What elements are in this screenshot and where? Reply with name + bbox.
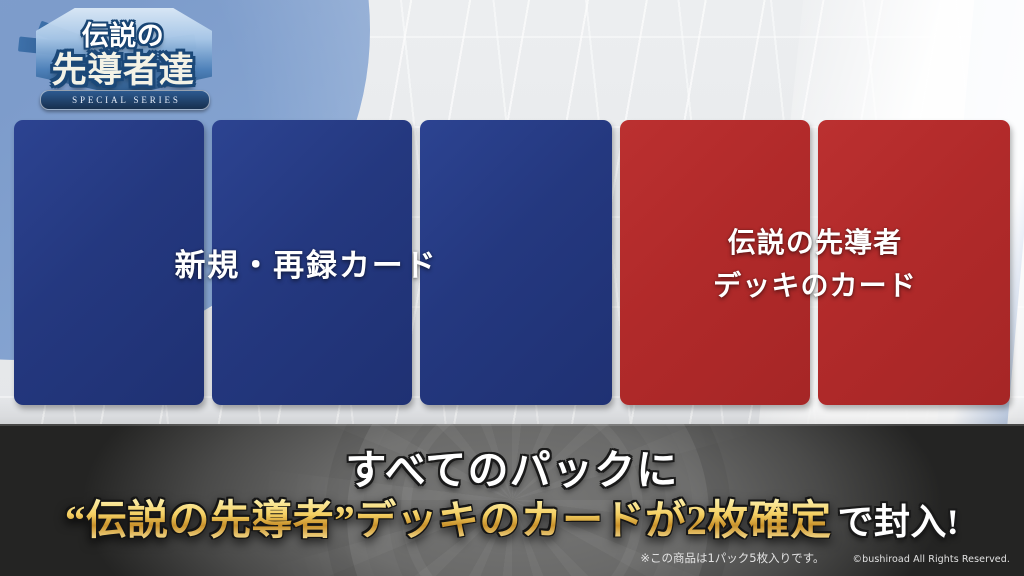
pack-contents-note: ※この商品は1パック5枚入りです。: [640, 550, 824, 566]
fineprint-row: ※この商品は1パック5枚入りです。 ©bushiroad All Rights …: [640, 550, 1010, 566]
logo-series-text: SPECIAL SERIES: [41, 91, 209, 109]
card-blue-2: [212, 120, 412, 405]
logo-title-main: 先導者達: [14, 42, 232, 93]
card-red-2: [818, 120, 1010, 405]
card-blue-1: [14, 120, 204, 405]
banner-headline-gold: “伝説の先導者”デッキのカードが2枚確定: [65, 497, 832, 543]
series-logo: 伝説の 先導者達 SPECIAL SERIES: [14, 2, 232, 114]
logo-series-ribbon: SPECIAL SERIES: [40, 90, 210, 110]
banner-top-edge: [0, 424, 1024, 426]
copyright-notice: ©bushiroad All Rights Reserved.: [852, 554, 1010, 565]
banner-headline-line2: “伝説の先導者”デッキのカードが2枚確定で封入!: [0, 486, 1024, 546]
promo-banner-image: 伝説の 先導者達 SPECIAL SERIES 新規・再録カード 伝説の先導者 …: [0, 0, 1024, 576]
banner-headline-tail: で封入!: [838, 502, 960, 542]
card-red-1: [620, 120, 810, 405]
card-blue-3: [420, 120, 612, 405]
bottom-banner: すべてのパックに “伝説の先導者”デッキのカードが2枚確定で封入! ※この商品は…: [0, 424, 1024, 576]
